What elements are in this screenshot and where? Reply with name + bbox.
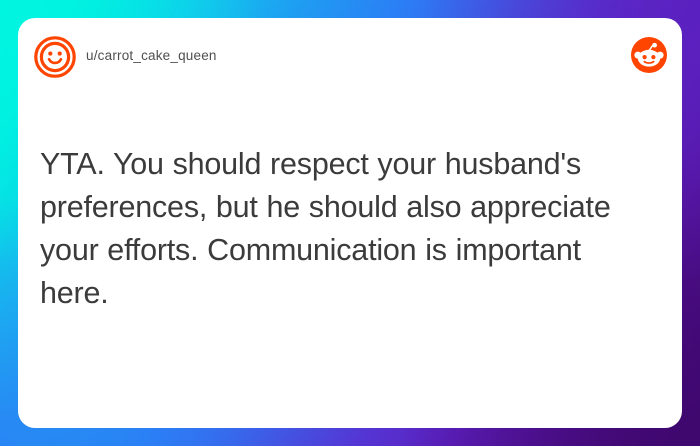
reddit-comment-card: u/carrot_cake_queen YTA. You should resp… [18,18,682,428]
comment-body-text: YTA. You should respect your husband's p… [40,143,652,315]
screenshot-canvas: u/carrot_cake_queen YTA. You should resp… [0,0,700,446]
reddit-snoo-icon[interactable] [630,36,668,74]
smiley-face-icon[interactable] [33,35,77,79]
card-header: u/carrot_cake_queen [18,18,682,96]
username-label: u/carrot_cake_queen [86,48,217,63]
